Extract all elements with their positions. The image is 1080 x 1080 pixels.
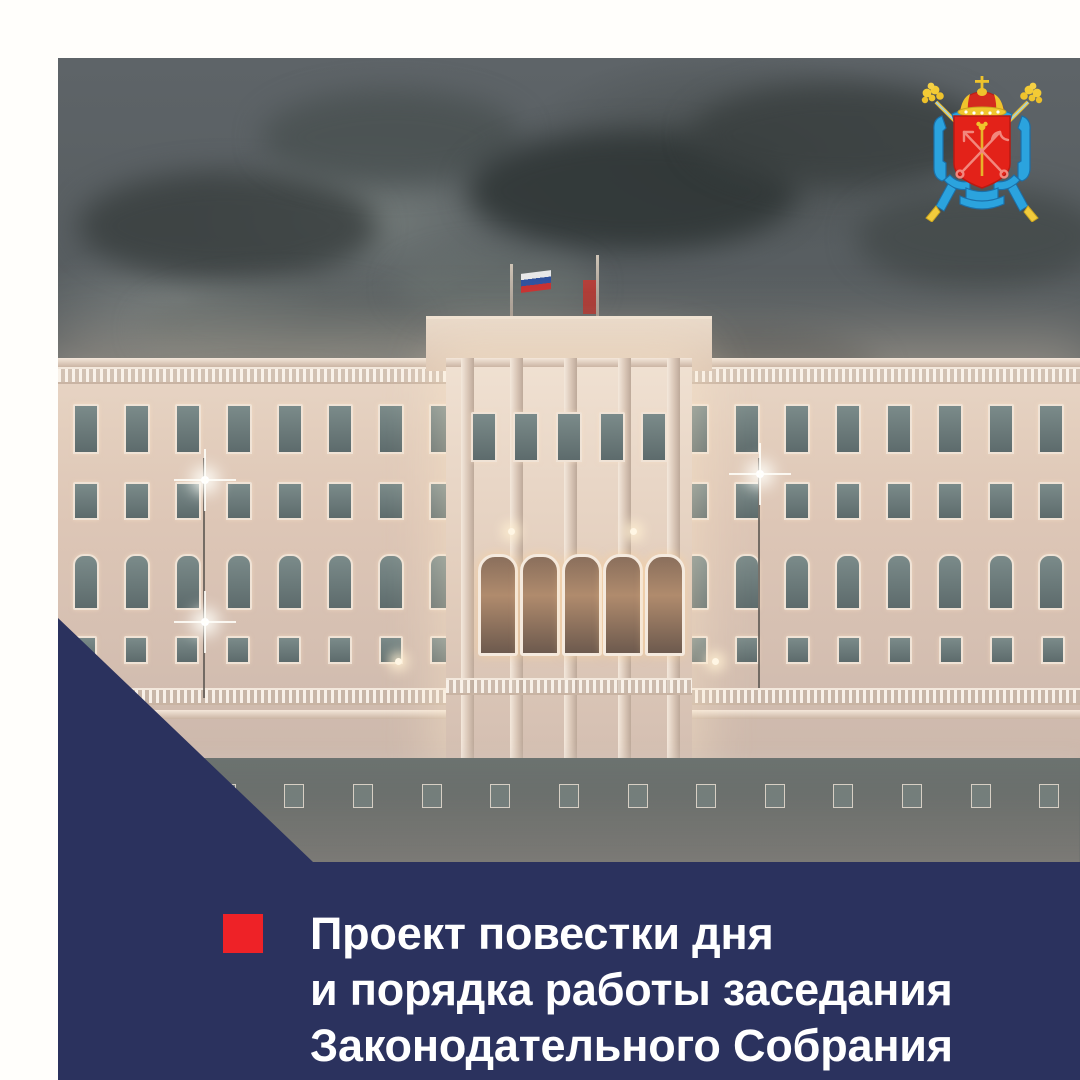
cloud [78,171,378,281]
window [175,404,201,454]
window [988,482,1014,520]
window [277,482,303,520]
reflected-window [1039,784,1059,808]
window [1038,404,1064,454]
window [734,404,760,454]
window [835,404,861,454]
reflected-window [490,784,510,808]
window [837,636,861,664]
window-arched [784,554,810,610]
coat-of-arms-icon [918,72,1046,222]
window [734,482,760,520]
russian-flag-icon [521,270,551,293]
headline-line-1: Проект повестки дня [310,906,1010,962]
window [124,404,150,454]
window [988,404,1014,454]
grand-arch-window [645,554,685,656]
window [937,404,963,454]
window [835,482,861,520]
reflected-window [628,784,648,808]
window [599,412,625,462]
reflected-window [284,784,304,808]
window [175,636,199,664]
window [328,636,352,664]
window-arched [734,554,760,610]
reflected-window [422,784,442,808]
window [73,404,99,454]
street-light-flare [756,470,764,478]
window [939,636,963,664]
window [735,636,759,664]
window [784,404,810,454]
window-arched [124,554,150,610]
reflected-window [696,784,716,808]
window [786,636,810,664]
grand-arch-window [478,554,518,656]
reflected-window [559,784,579,808]
window [556,412,582,462]
window [73,482,99,520]
grand-arch-window [520,554,560,656]
window [886,482,912,520]
reflected-window [902,784,922,808]
window [124,636,148,664]
window [327,404,353,454]
window-arched [835,554,861,610]
facade-lamp [508,528,515,535]
window [226,482,252,520]
window [124,482,150,520]
window [990,636,1014,664]
window-arched [378,554,404,610]
window [378,482,404,520]
window-arched [327,554,353,610]
window [784,482,810,520]
grand-arch-window [562,554,602,656]
window [513,412,539,462]
headline-line-2: и порядка работы заседания [310,962,1010,1018]
window-arched [988,554,1014,610]
center-window-row [446,412,691,462]
window [886,404,912,454]
saint-petersburg-coat-of-arms [918,72,1046,222]
window [378,404,404,454]
imperial-crown-icon [958,76,1006,117]
window-arched [175,554,201,610]
headline-line-3: Законодательного Собрания [310,1018,1010,1074]
window-arched [73,554,99,610]
red-shield [954,116,1010,188]
headline-block: Проект повестки дня и порядка работы зас… [310,906,1010,1074]
reflected-window [971,784,991,808]
window-arched [226,554,252,610]
window [277,636,301,664]
grand-arch-window [603,554,643,656]
reflected-window [765,784,785,808]
red-accent-square [223,914,263,953]
window [641,412,667,462]
window [1041,636,1065,664]
window [1038,482,1064,520]
poster-root: Проект повестки дня и порядка работы зас… [0,0,1080,1080]
central-risalit [446,358,691,778]
window [471,412,497,462]
window-arched [937,554,963,610]
flagpole-left [510,264,513,322]
center-balustrade [446,678,691,695]
window [277,404,303,454]
window [226,636,250,664]
window-arched [886,554,912,610]
window-arched [277,554,303,610]
window [226,404,252,454]
window [327,482,353,520]
window [937,482,963,520]
window [175,482,201,520]
city-flag-icon [583,280,596,314]
window [888,636,912,664]
window-arched [1038,554,1064,610]
reflected-window [833,784,853,808]
reflected-window [353,784,373,808]
